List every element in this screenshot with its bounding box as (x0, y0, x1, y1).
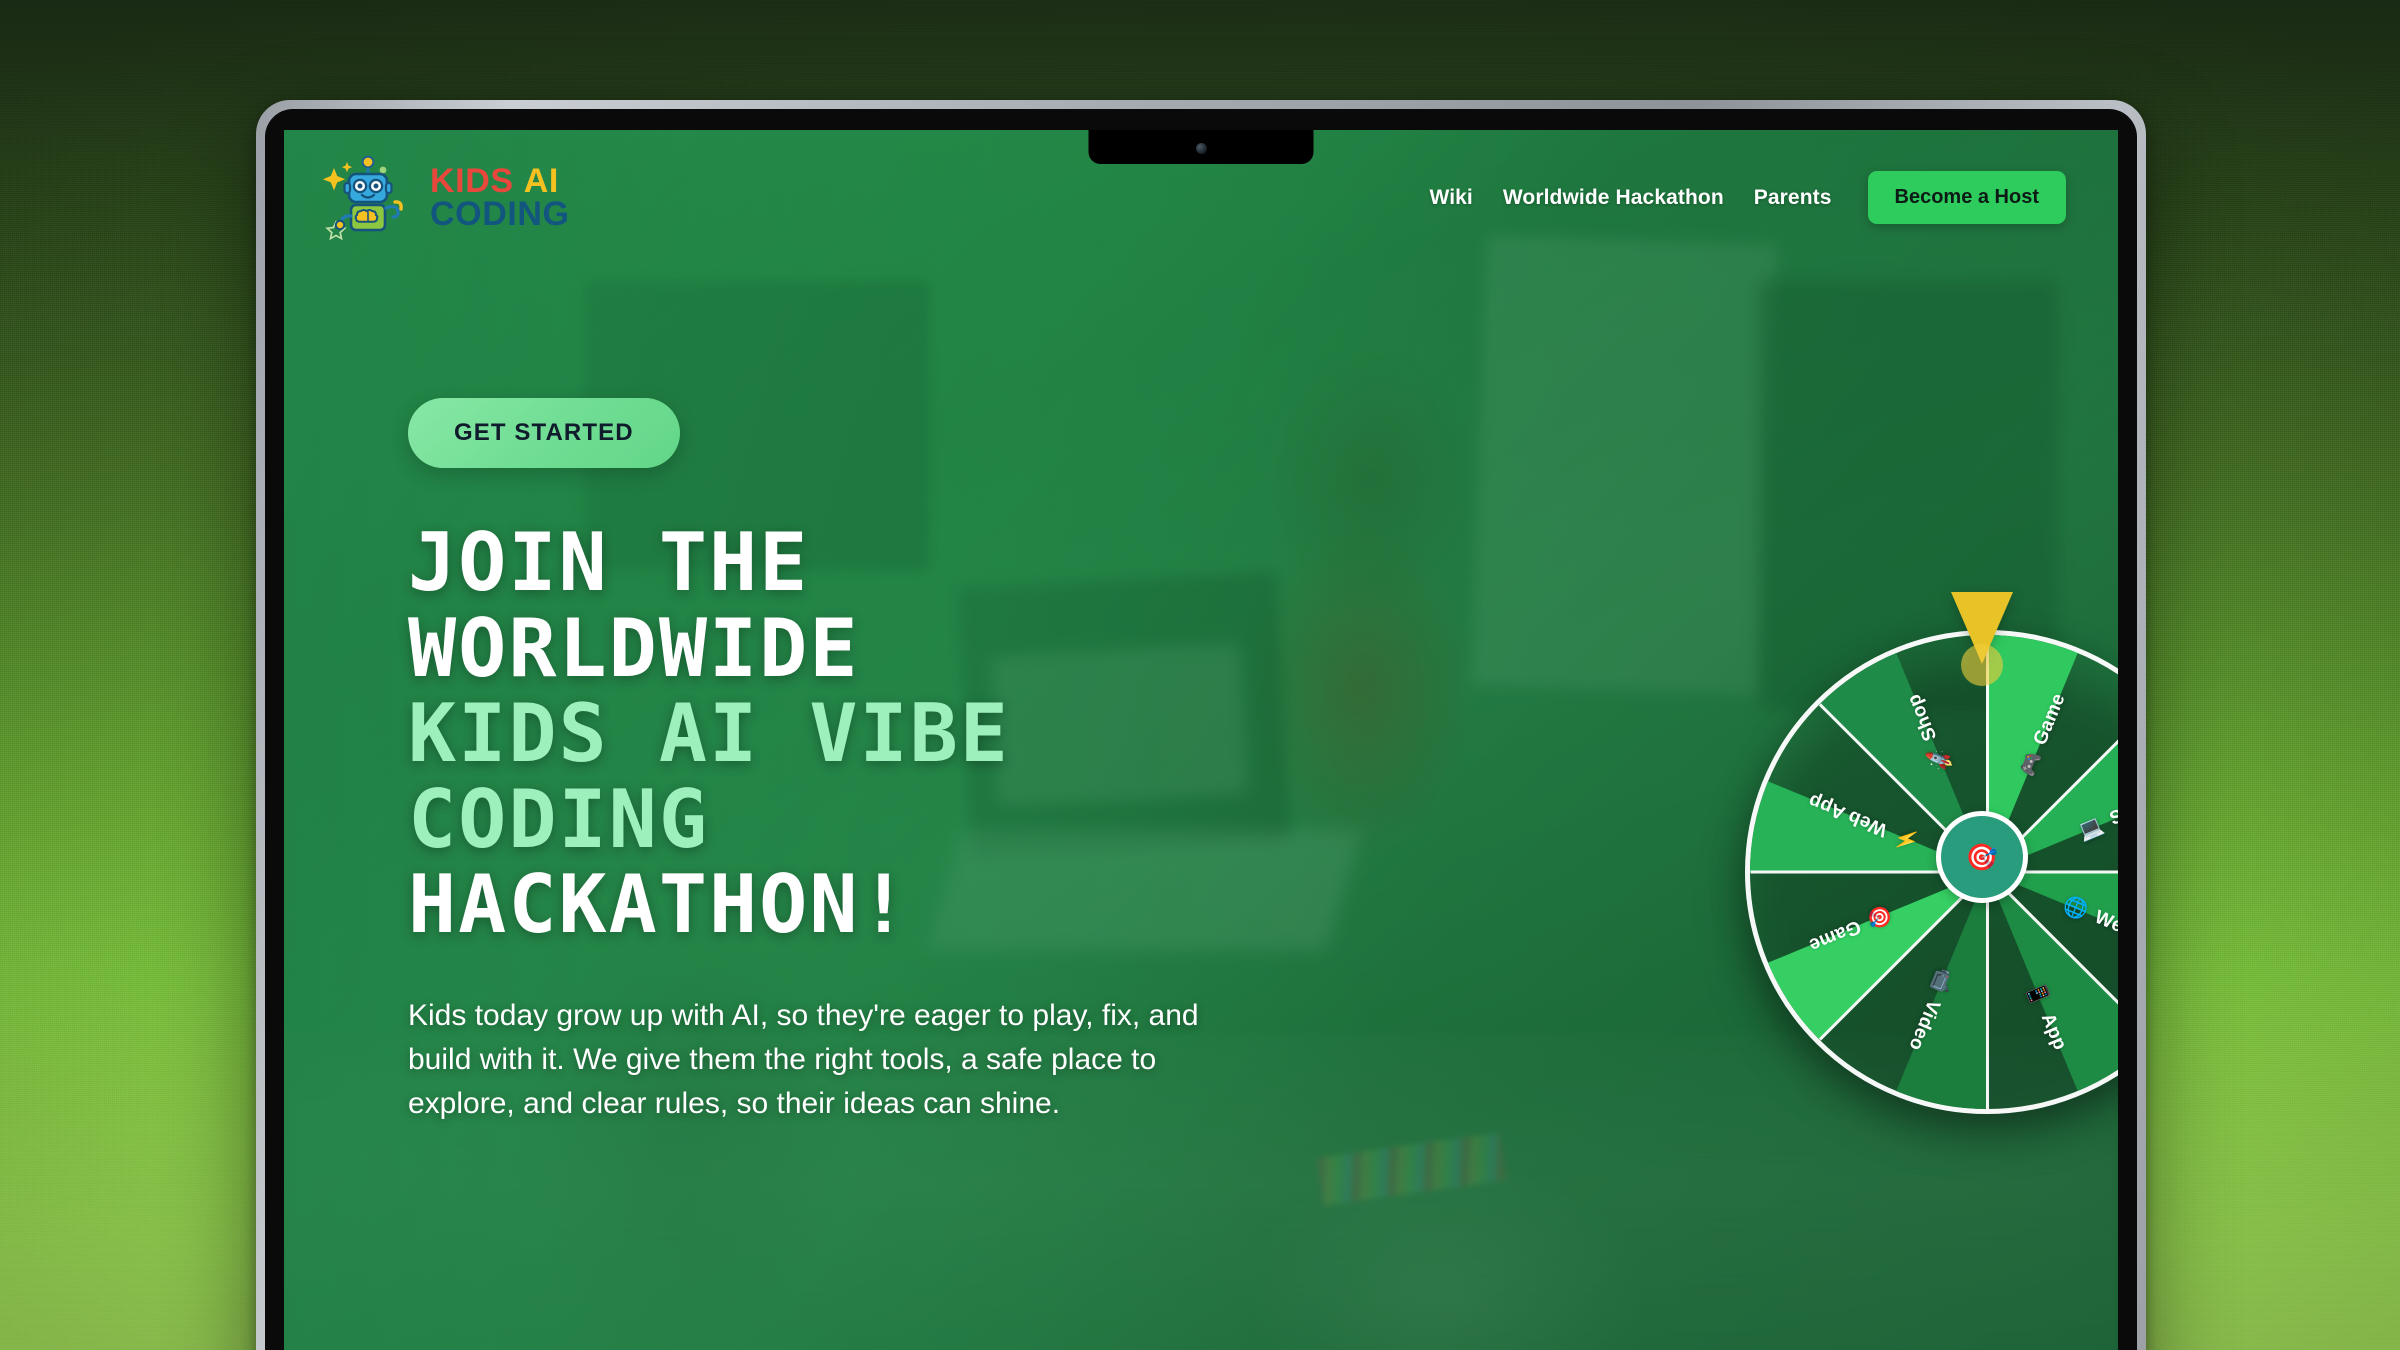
target-icon: 🎯 (1966, 842, 1998, 873)
brand-word-coding: CODING (430, 195, 570, 233)
headline-line-2: WORLDWIDE (408, 606, 1288, 692)
laptop-mockup: KIDS AI CODING Wiki Worldwide Hackathon … (256, 100, 2146, 1350)
webcam-icon (1196, 143, 1207, 154)
wheel-divider (1986, 872, 1989, 1109)
robot-mascot-icon (320, 150, 416, 246)
prize-wheel[interactable]: 🎮Game💻Social🌐Website📱App📹Video🎯Game⚡Web … (1727, 592, 2118, 1122)
hero-section: GET STARTED JOIN THE WORLDWIDE KIDS AI V… (408, 398, 1288, 1125)
nav-link-wiki[interactable]: Wiki (1429, 186, 1472, 210)
brand-line-one: KIDS AI (430, 165, 570, 198)
hero-headline: JOIN THE WORLDWIDE KIDS AI VIBE CODING H… (408, 520, 1288, 948)
headline-line-4: CODING (408, 777, 1288, 863)
become-a-host-button[interactable]: Become a Host (1868, 171, 2067, 224)
hero-paragraph: Kids today grow up with AI, so they're e… (408, 994, 1208, 1125)
nav-link-parents[interactable]: Parents (1754, 186, 1832, 210)
headline-line-3: KIDS AI VIBE (408, 691, 1288, 777)
brand-wordmark: KIDS AI CODING (430, 165, 570, 230)
get-started-button[interactable]: GET STARTED (408, 398, 680, 468)
brand-line-two: CODING (430, 198, 570, 231)
nav-link-worldwide-hackathon[interactable]: Worldwide Hackathon (1503, 186, 1724, 210)
laptop-notch (1089, 130, 1314, 164)
headline-line-5: HACKATHON! (408, 862, 1288, 948)
main-navigation: Wiki Worldwide Hackathon Parents Become … (1429, 171, 2066, 224)
wheel-pointer-knob (1961, 644, 2003, 686)
headline-line-1: JOIN THE (408, 520, 1288, 606)
brand-logo[interactable]: KIDS AI CODING (320, 150, 570, 246)
wheel-center-hub[interactable]: 🎯 (1936, 811, 2028, 903)
laptop-screen: KIDS AI CODING Wiki Worldwide Hackathon … (284, 130, 2118, 1350)
